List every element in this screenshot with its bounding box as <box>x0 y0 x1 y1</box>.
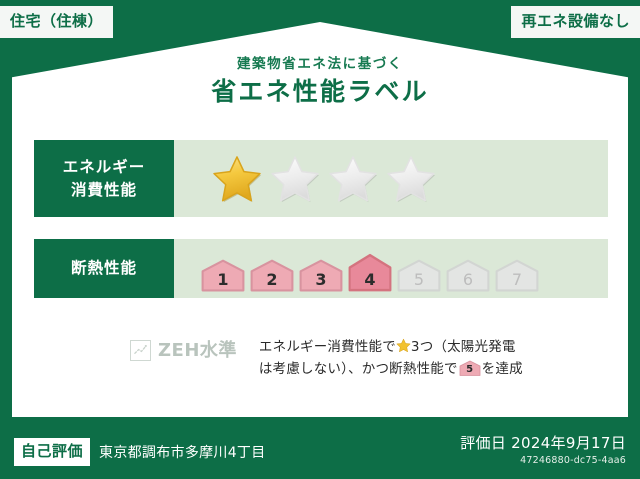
inline-grade-badge: 5 <box>459 360 481 376</box>
title-subtitle: 建築物省エネ法に基づく <box>0 56 640 72</box>
zeh-mark: ZEH水準 <box>130 340 237 361</box>
energy-performance-label-line1: エネルギー <box>63 156 146 178</box>
grade-badge-empty: 6 <box>445 258 491 292</box>
property-address: 東京都調布市多摩川4丁目 <box>99 442 266 462</box>
building-type-tag: 住宅（住棟） <box>0 6 113 38</box>
grade-badge-empty: 5 <box>396 258 442 292</box>
zeh-desc-star-count: 3つ（太陽光発電 <box>411 339 516 355</box>
grade-badge-number: 6 <box>445 272 491 288</box>
zeh-standard-block: ZEH水準 エネルギー消費性能で 3つ（太陽光発電 は考慮しない）、かつ断熱性能… <box>34 336 608 381</box>
energy-performance-label: エネルギー 消費性能 <box>34 140 174 217</box>
footer-right-group: 評価日 2024年9月17日 47246880-dc75-4aa6 <box>460 435 626 466</box>
evaluation-date: 評価日 2024年9月17日 <box>460 435 626 452</box>
zeh-desc-part3: を達成 <box>482 361 523 377</box>
grade-badge-filled: 3 <box>298 258 344 292</box>
grade-badge-achieved: 4 <box>347 252 393 292</box>
zeh-mark-label: ZEH水準 <box>158 342 237 360</box>
star-icon-empty <box>326 153 380 205</box>
insulation-performance-row: 断熱性能 1234567 <box>34 239 608 298</box>
star-icon-empty <box>268 153 322 205</box>
star-rating <box>174 140 608 217</box>
grade-badge-number: 7 <box>494 272 540 288</box>
grade-badge-number: 3 <box>298 272 344 288</box>
energy-performance-row: エネルギー 消費性能 <box>34 140 608 217</box>
label-title-block: 建築物省エネ法に基づく 省エネ性能ラベル <box>0 56 640 107</box>
grade-badge-number: 4 <box>347 272 393 288</box>
inline-star-icon <box>396 338 411 353</box>
zeh-check-icon <box>130 340 151 361</box>
grade-badge-filled: 2 <box>249 258 295 292</box>
star-icon-filled <box>210 153 264 205</box>
footer-left-group: 自己評価 東京都調布市多摩川4丁目 <box>14 438 266 466</box>
star-icon-empty <box>384 153 438 205</box>
zeh-desc-part1: エネルギー消費性能で <box>259 339 396 355</box>
evaluation-type-badge: 自己評価 <box>14 438 90 466</box>
energy-performance-label: 住宅（住棟） 再エネ設備なし 建築物省エネ法に基づく 省エネ性能ラベル エネルギ… <box>0 0 640 479</box>
grade-badge-number: 1 <box>200 272 246 288</box>
insulation-grade-scale: 1234567 <box>174 239 608 298</box>
zeh-desc-part2: は考慮しない）、かつ断熱性能で <box>259 361 458 377</box>
title-main: 省エネ性能ラベル <box>0 76 640 107</box>
evaluation-id: 47246880-dc75-4aa6 <box>460 455 626 466</box>
grade-badge-number: 2 <box>249 272 295 288</box>
grade-badge-number: 5 <box>396 272 442 288</box>
grade-list: 1234567 <box>200 252 543 292</box>
grade-badge-empty: 7 <box>494 258 540 292</box>
insulation-performance-label-text: 断熱性能 <box>71 257 137 279</box>
renewable-energy-tag: 再エネ設備なし <box>511 6 640 38</box>
label-footer: 自己評価 東京都調布市多摩川4丁目 評価日 2024年9月17日 4724688… <box>0 417 640 479</box>
energy-performance-label-line2: 消費性能 <box>71 179 137 201</box>
insulation-performance-label: 断熱性能 <box>34 239 174 298</box>
grade-badge-filled: 1 <box>200 258 246 292</box>
inline-grade-value: 5 <box>459 365 481 375</box>
zeh-description: エネルギー消費性能で 3つ（太陽光発電 は考慮しない）、かつ断熱性能で 5 を達… <box>259 336 608 381</box>
